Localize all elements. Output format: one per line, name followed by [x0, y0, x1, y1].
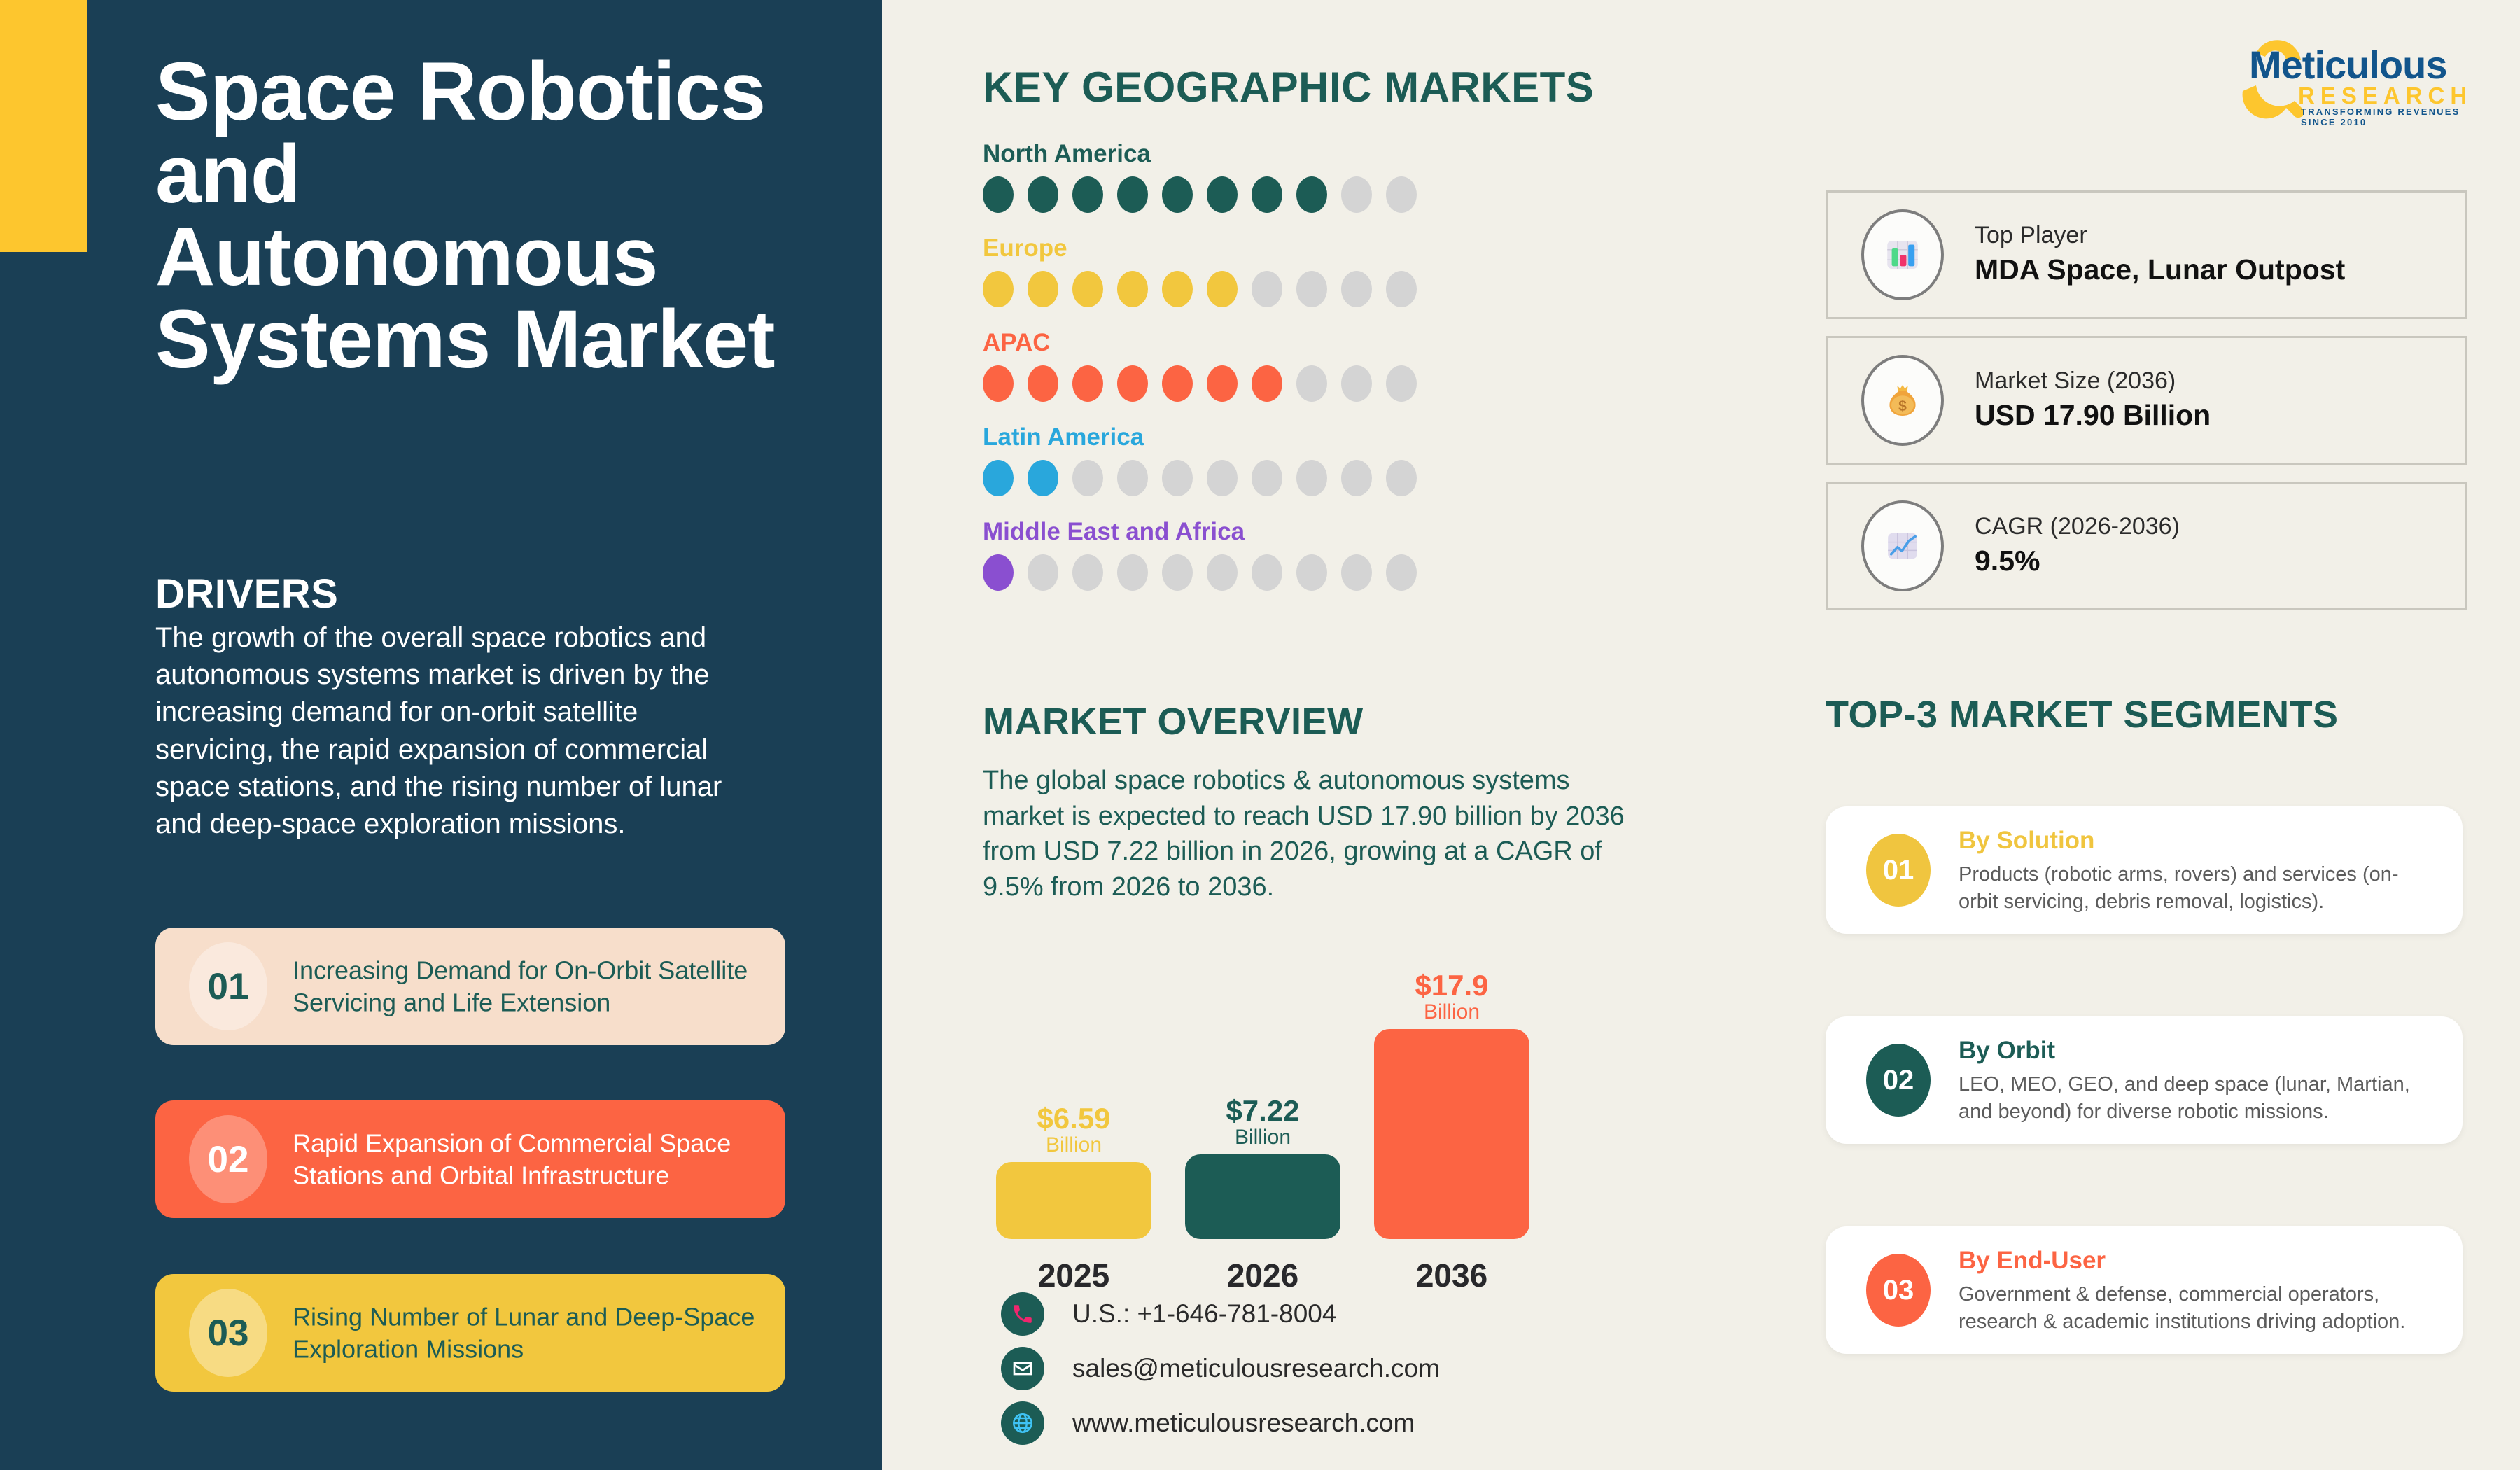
geo-dot — [983, 554, 1014, 591]
geo-row-latin-america: Latin America — [983, 423, 1417, 496]
drivers-heading: DRIVERS — [155, 570, 338, 617]
bar-value-label: $6.59 — [983, 1104, 1165, 1133]
geo-dot — [1341, 176, 1372, 213]
market-overview-body: The global space robotics & autonomous s… — [983, 763, 1641, 904]
svg-text:$: $ — [1898, 398, 1907, 414]
geo-dot — [1072, 460, 1103, 496]
logo-subtitle: RESEARCH — [2298, 83, 2472, 109]
geo-dot — [1386, 365, 1417, 402]
geo-dot — [1341, 365, 1372, 402]
segment-desc-2: LEO, MEO, GEO, and deep space (lunar, Ma… — [1959, 1071, 2435, 1125]
market-size-bar-chart: $6.59Billion$7.22Billion$17.9Billion — [983, 945, 1543, 1239]
segment-card-1[interactable]: 01 By Solution Products (robotic arms, r… — [1826, 806, 2463, 934]
bar-column: $17.9Billion — [1361, 971, 1543, 1239]
stat-value-cagr: 9.5% — [1975, 542, 2180, 580]
geo-dot — [1072, 365, 1103, 402]
driver-number-1: 01 — [189, 942, 267, 1030]
geo-dot — [1028, 365, 1058, 402]
website-text: www.meticulousresearch.com — [1072, 1408, 1415, 1438]
envelope-icon — [1001, 1347, 1044, 1390]
geo-dot — [983, 365, 1014, 402]
driver-text-2: Rapid Expansion of Commercial Space Stat… — [293, 1127, 766, 1191]
driver-card-2[interactable]: 02 Rapid Expansion of Commercial Space S… — [155, 1100, 785, 1218]
geo-dot — [1252, 176, 1282, 213]
bar-unit-label: Billion — [1172, 1126, 1354, 1149]
geo-dots-north-america — [983, 176, 1417, 213]
geo-dot — [1072, 271, 1103, 307]
geo-dot — [1296, 365, 1327, 402]
bar-rect — [1374, 1029, 1529, 1239]
geo-label-middle-east-africa: Middle East and Africa — [983, 518, 1417, 546]
geo-dot — [1386, 271, 1417, 307]
bar-chart-icon — [1861, 209, 1944, 300]
geo-dot — [1117, 365, 1148, 402]
geo-label-latin-america: Latin America — [983, 423, 1417, 451]
stat-label-cagr: CAGR (2026-2036) — [1975, 511, 2180, 542]
segment-head-2: By Orbit — [1959, 1035, 2435, 1066]
drivers-body-text: The growth of the overall space robotics… — [155, 619, 747, 843]
segment-number-3: 03 — [1866, 1254, 1931, 1326]
geo-dot — [983, 271, 1014, 307]
bar-rect — [1185, 1154, 1340, 1239]
geo-dot — [1117, 554, 1148, 591]
driver-text-1: Increasing Demand for On-Orbit Satellite… — [293, 954, 766, 1018]
market-overview-title: MARKET OVERVIEW — [983, 700, 1364, 743]
driver-text-3: Rising Number of Lunar and Deep-Space Ex… — [293, 1301, 766, 1364]
stat-value-market-size: USD 17.90 Billion — [1975, 396, 2211, 435]
stat-label-market-size: Market Size (2036) — [1975, 365, 2211, 396]
segment-number-1: 01 — [1866, 834, 1931, 906]
geo-dot — [1386, 176, 1417, 213]
segment-head-1: By Solution — [1959, 825, 2435, 856]
geo-dot — [1028, 460, 1058, 496]
geo-dot — [1072, 554, 1103, 591]
geo-dot — [1207, 554, 1238, 591]
geo-dot — [1252, 460, 1282, 496]
geo-dot — [1341, 554, 1372, 591]
segment-desc-1: Products (robotic arms, rovers) and serv… — [1959, 861, 2435, 915]
geo-dot — [1252, 365, 1282, 402]
geo-row-north-america: North America — [983, 140, 1417, 213]
bar-year-label: 2036 — [1361, 1256, 1543, 1294]
accent-bar — [0, 0, 87, 252]
geo-dots-latin-america — [983, 460, 1417, 496]
geo-dot — [1028, 176, 1058, 213]
geo-dots-middle-east-africa — [983, 554, 1417, 591]
bar-value-label: $7.22 — [1172, 1096, 1354, 1126]
left-panel: Space Robotics and Autonomous Systems Ma… — [0, 0, 882, 1470]
geo-dot — [1341, 460, 1372, 496]
segment-card-3[interactable]: 03 By End-User Government & defense, com… — [1826, 1226, 2463, 1354]
geo-dot — [1207, 271, 1238, 307]
stat-label-top-player: Top Player — [1975, 220, 2345, 251]
money-bag-icon: $ — [1861, 355, 1944, 446]
geo-dot — [1296, 176, 1327, 213]
geo-label-europe: Europe — [983, 234, 1417, 262]
geo-dot — [983, 176, 1014, 213]
meticulous-research-logo: Meticulous RESEARCH TRANSFORMING REVENUE… — [2215, 34, 2474, 125]
stat-card-top-player[interactable]: Top Player MDA Space, Lunar Outpost — [1826, 190, 2467, 319]
geo-label-north-america: North America — [983, 140, 1417, 168]
geo-dot — [1028, 554, 1058, 591]
line-chart-icon — [1861, 500, 1944, 591]
geo-dot — [1162, 271, 1193, 307]
geo-row-apac: APAC — [983, 329, 1417, 402]
segment-card-2[interactable]: 02 By Orbit LEO, MEO, GEO, and deep spac… — [1826, 1016, 2463, 1144]
geo-dot — [1207, 365, 1238, 402]
geo-dot — [1252, 554, 1282, 591]
geo-dot — [1341, 271, 1372, 307]
phone-icon — [1001, 1292, 1044, 1336]
segment-head-3: By End-User — [1959, 1245, 2435, 1276]
geo-label-apac: APAC — [983, 329, 1417, 357]
stat-card-market-size[interactable]: $ Market Size (2036) USD 17.90 Billion — [1826, 336, 2467, 465]
geo-dot — [1117, 271, 1148, 307]
page-title: Space Robotics and Autonomous Systems Ma… — [155, 50, 806, 381]
bar-column: $7.22Billion — [1172, 1096, 1354, 1239]
stat-card-cagr[interactable]: CAGR (2026-2036) 9.5% — [1826, 482, 2467, 610]
geo-dot — [1386, 460, 1417, 496]
geo-dot — [1162, 460, 1193, 496]
contact-email-row[interactable]: sales@meticulousresearch.com — [1001, 1341, 1440, 1396]
bar-rect — [996, 1162, 1151, 1239]
geo-dot — [1296, 271, 1327, 307]
globe-icon — [1001, 1401, 1044, 1445]
bar-column: $6.59Billion — [983, 1104, 1165, 1239]
geo-row-europe: Europe — [983, 234, 1417, 307]
geo-dot — [1162, 554, 1193, 591]
contact-website-row[interactable]: www.meticulousresearch.com — [1001, 1396, 1415, 1450]
bar-unit-label: Billion — [983, 1133, 1165, 1156]
geo-dot — [1207, 460, 1238, 496]
phone-text: U.S.: +1-646-781-8004 — [1072, 1299, 1336, 1329]
geo-dot — [1386, 554, 1417, 591]
driver-card-3[interactable]: 03 Rising Number of Lunar and Deep-Space… — [155, 1274, 785, 1392]
geo-dot — [1028, 271, 1058, 307]
bar-value-label: $17.9 — [1361, 971, 1543, 1000]
geo-row-middle-east-africa: Middle East and Africa — [983, 518, 1417, 591]
geo-dot — [1296, 460, 1327, 496]
segment-number-2: 02 — [1866, 1044, 1931, 1116]
infographic-root: Space Robotics and Autonomous Systems Ma… — [0, 0, 2520, 1470]
segment-desc-3: Government & defense, commercial operato… — [1959, 1281, 2435, 1335]
geo-dot — [1117, 176, 1148, 213]
driver-card-1[interactable]: 01 Increasing Demand for On-Orbit Satell… — [155, 927, 785, 1045]
driver-number-3: 03 — [189, 1289, 267, 1377]
email-text: sales@meticulousresearch.com — [1072, 1354, 1440, 1383]
bar-unit-label: Billion — [1361, 1000, 1543, 1023]
geo-dot — [1207, 176, 1238, 213]
geo-dot — [1252, 271, 1282, 307]
market-segments-title: TOP-3 MARKET SEGMENTS — [1826, 693, 2339, 736]
geo-dots-europe — [983, 271, 1417, 307]
stat-value-top-player: MDA Space, Lunar Outpost — [1975, 251, 2345, 289]
logo-tagline: TRANSFORMING REVENUES SINCE 2010 — [2301, 106, 2474, 127]
geo-dot — [1162, 365, 1193, 402]
geo-dot — [1072, 176, 1103, 213]
geo-dot — [1117, 460, 1148, 496]
driver-number-2: 02 — [189, 1115, 267, 1203]
contact-phone-row[interactable]: U.S.: +1-646-781-8004 — [1001, 1287, 1336, 1341]
geo-dot — [1162, 176, 1193, 213]
geo-dot — [1296, 554, 1327, 591]
geo-dots-apac — [983, 365, 1417, 402]
logo-name: Meticulous — [2249, 42, 2446, 87]
geo-dot — [983, 460, 1014, 496]
geographic-markets-title: KEY GEOGRAPHIC MARKETS — [983, 63, 1594, 111]
